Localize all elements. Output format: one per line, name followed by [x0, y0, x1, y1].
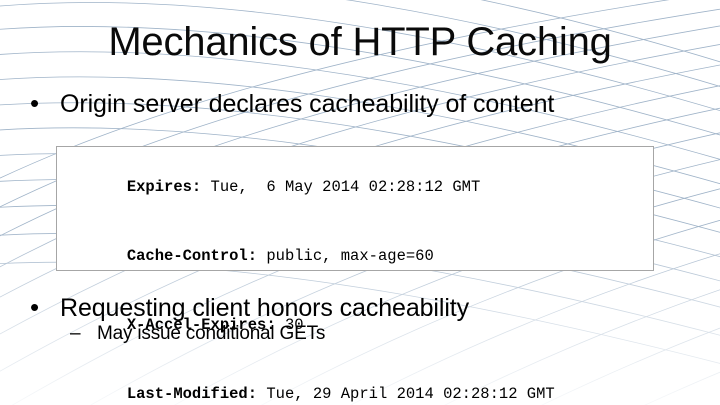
bullet-requesting-client: • Requesting client honors cacheability	[30, 292, 469, 323]
header-value-last-modified: Tue, 29 April 2014 02:28:12 GMT	[257, 385, 555, 403]
header-name-expires: Expires:	[127, 178, 201, 196]
header-value-expires: Tue, 6 May 2014 02:28:12 GMT	[201, 178, 480, 196]
sub-bullet-conditional-gets: – May issue conditional GETs	[70, 322, 325, 346]
header-name-cache-control: Cache-Control:	[127, 247, 257, 265]
sub-bullet-conditional-gets-label: May issue conditional GETs	[97, 322, 325, 346]
bullet-requesting-client-label: Requesting client honors cacheability	[60, 293, 469, 323]
dash-marker-icon: –	[70, 323, 97, 345]
header-line-expires: Expires: Tue, 6 May 2014 02:28:12 GMT	[71, 153, 653, 222]
header-line-last-modified: Last-Modified: Tue, 29 April 2014 02:28:…	[71, 360, 653, 405]
slide-title: Mechanics of HTTP Caching	[0, 16, 720, 68]
bullet-marker-icon: •	[30, 88, 60, 119]
bullet-origin-server: • Origin server declares cacheability of…	[30, 88, 554, 119]
bullet-marker-icon: •	[30, 292, 60, 323]
http-headers-code-box: Expires: Tue, 6 May 2014 02:28:12 GMT Ca…	[56, 146, 654, 271]
header-name-last-modified: Last-Modified:	[127, 385, 257, 403]
bullet-origin-server-label: Origin server declares cacheability of c…	[60, 89, 554, 119]
header-line-cache-control: Cache-Control: public, max-age=60	[71, 222, 653, 291]
header-value-cache-control: public, max-age=60	[257, 247, 434, 265]
slide-canvas: Mechanics of HTTP Caching • Origin serve…	[0, 0, 720, 405]
